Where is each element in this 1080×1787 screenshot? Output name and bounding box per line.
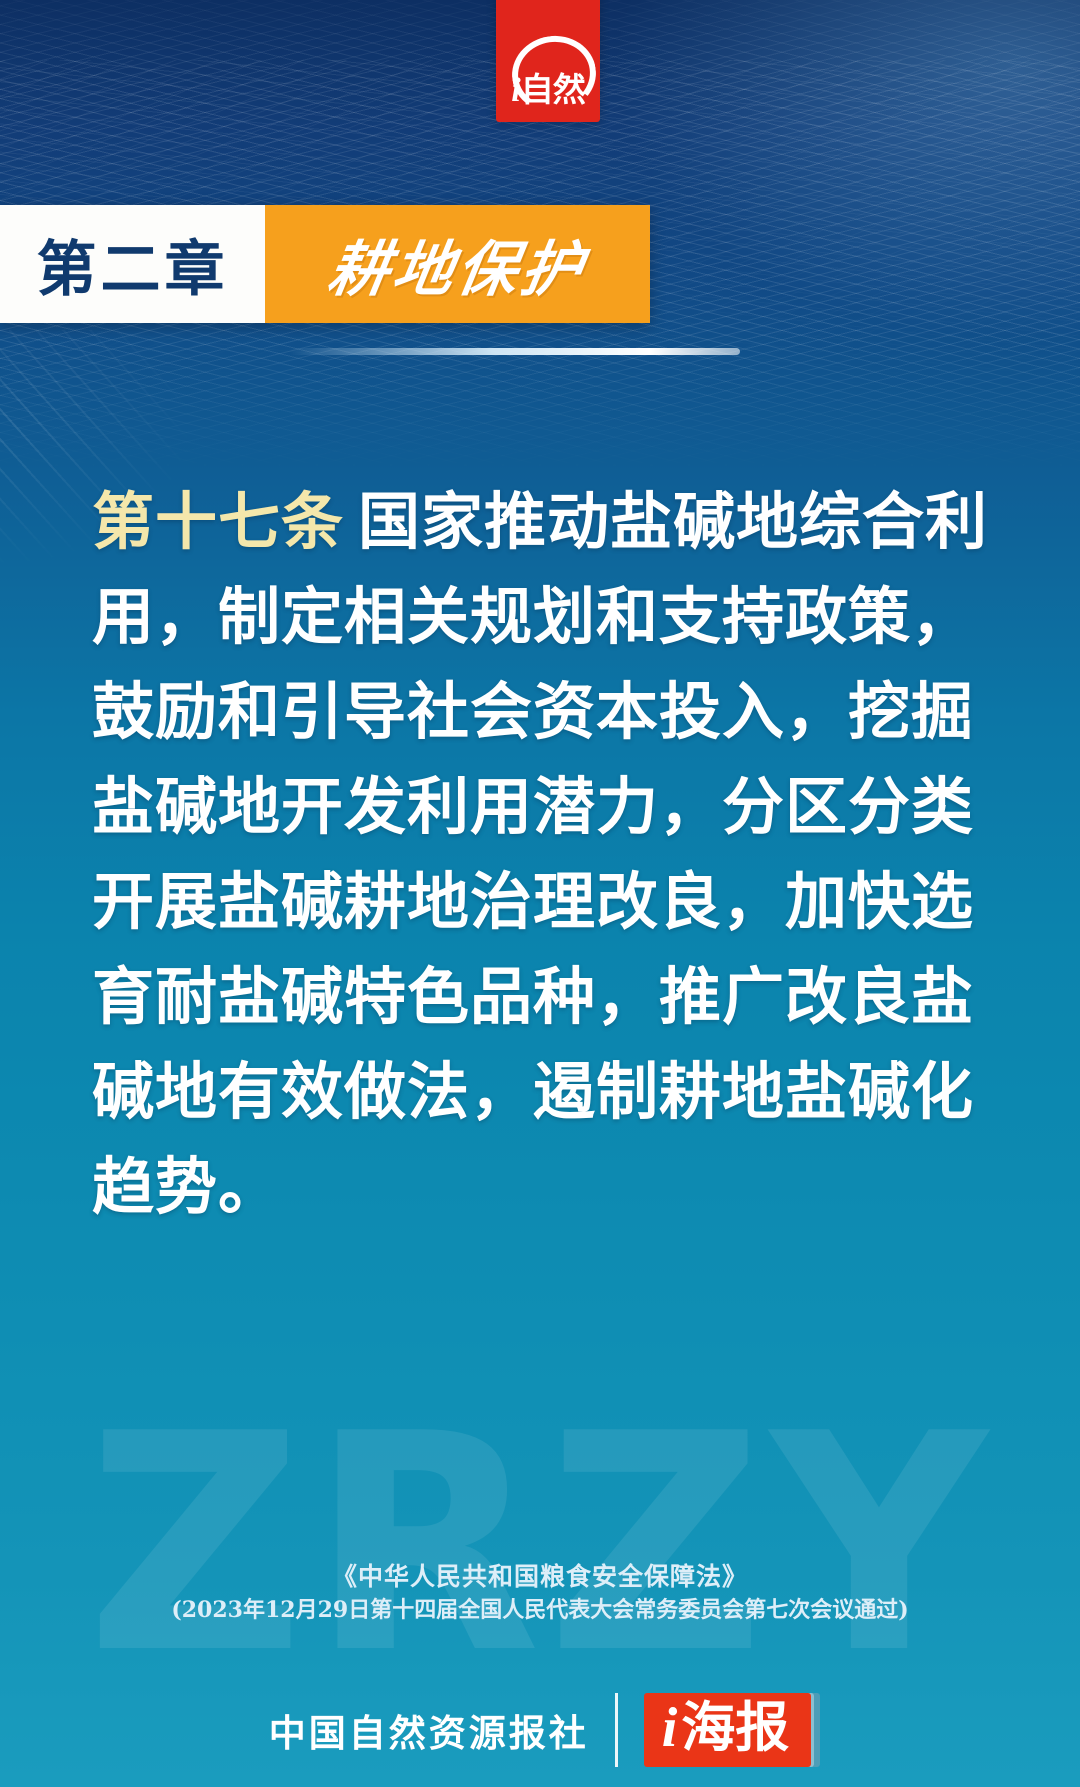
chapter-title-label: 耕地保护 xyxy=(323,221,593,308)
chapter-number-label: 第二章 xyxy=(37,221,229,308)
chapter-underline-divider xyxy=(290,348,740,355)
footer-publisher-name: 中国自然资源报社 xyxy=(269,1703,589,1757)
article-body: 第十七条国家推动盐碱地综合利用，制定相关规划和支持政策，鼓励和引导社会资本投入，… xyxy=(92,474,992,1234)
article-text: 国家推动盐碱地综合利用，制定相关规划和支持政策，鼓励和引导社会资本投入，挖掘盐碱… xyxy=(92,485,988,1223)
article-number: 第十七条 xyxy=(92,485,344,558)
izran-logo-badge: i自然 xyxy=(496,0,600,122)
corner-glow xyxy=(580,0,1080,360)
logo-chinese: 自然 xyxy=(521,71,585,108)
watermark-text: ZRZY xyxy=(0,1395,1080,1695)
citation-law-title: 《中华人民共和国粮食安全保障法》 xyxy=(0,1560,1080,1594)
footer-divider xyxy=(615,1693,618,1767)
ihaibao-letter-i: i xyxy=(662,1700,678,1756)
chapter-title-box: 耕地保护 xyxy=(265,205,650,323)
citation-adoption-note: (2023年12月29日第十四届全国人民代表大会常务委员会第七次会议通过) xyxy=(0,1594,1080,1626)
logo-letter-i: i xyxy=(511,72,519,109)
ihaibao-chinese: 海报 xyxy=(681,1701,789,1755)
logo-wordmark: i自然 xyxy=(496,73,600,108)
chapter-header: 第二章 耕地保护 xyxy=(0,205,650,323)
poster-canvas: i自然 第二章 耕地保护 ZRZY 第十七条国家推动盐碱地综合利用，制定相关规划… xyxy=(0,0,1080,1787)
ihaibao-badge: i海报 xyxy=(644,1693,812,1767)
izran-logo-icon: i自然 xyxy=(496,10,600,122)
footer-brand-bar: 中国自然资源报社 i海报 xyxy=(0,1682,1080,1778)
citation-block: 《中华人民共和国粮食安全保障法》 (2023年12月29日第十四届全国人民代表大… xyxy=(0,1560,1080,1626)
chapter-number-box: 第二章 xyxy=(0,205,265,323)
